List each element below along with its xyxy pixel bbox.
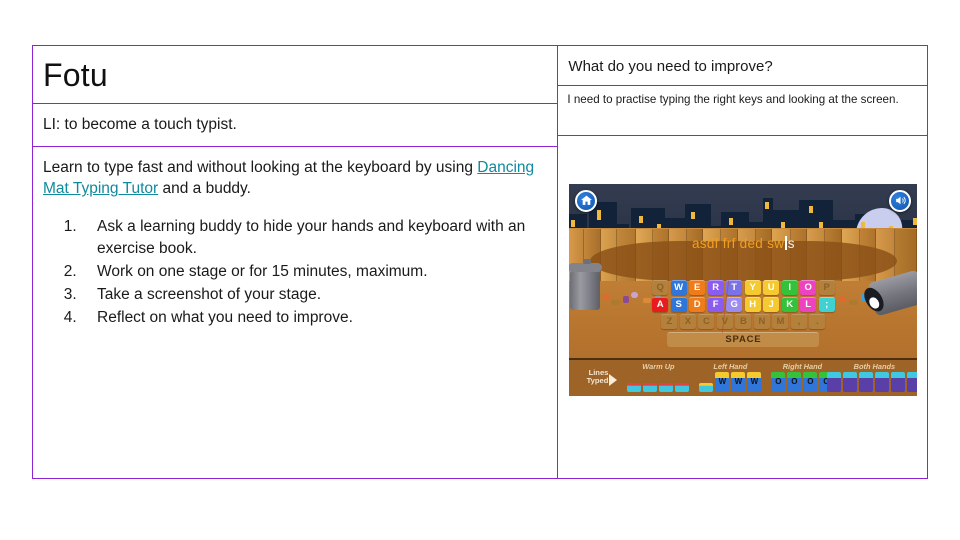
typing-game-screenshot: asdf frf ded sws xyxy=(569,184,917,396)
key-l[interactable]: L xyxy=(800,297,816,312)
key-f[interactable]: F xyxy=(708,297,724,312)
lines-typed-label-line2: Typed xyxy=(574,377,608,385)
progress-cans: WWW xyxy=(693,372,767,392)
key-s[interactable]: S xyxy=(671,297,687,312)
intro-text-after-link: and a buddy. xyxy=(158,180,251,197)
list-item: Work on one stage or for 15 minutes, max… xyxy=(81,261,546,283)
intro-text-before-link: Learn to type fast and without looking a… xyxy=(43,159,477,176)
can-letter: W xyxy=(751,377,759,386)
can-letter: O xyxy=(807,377,813,386)
progress-can: W xyxy=(731,372,745,392)
key-m[interactable]: M xyxy=(772,314,788,329)
keyboard-row-top: QWERTYUIOP xyxy=(569,280,917,295)
lines-typed-label: Lines Typed xyxy=(574,369,608,386)
reflection-question-cell: What do you need to improve? xyxy=(557,45,928,87)
progress-can xyxy=(875,372,889,392)
progress-can xyxy=(699,383,713,392)
key-q[interactable]: Q xyxy=(652,280,668,295)
window-light xyxy=(691,212,695,219)
screenshot-cell: asdf frf ded sws xyxy=(557,135,928,479)
progress-can: O xyxy=(787,372,801,392)
reflection-answer: I need to practise typing the right keys… xyxy=(567,92,918,108)
keyboard-row-home: ASDFGHJKL; xyxy=(569,297,917,312)
key-a[interactable]: A xyxy=(652,297,668,312)
window-light xyxy=(809,206,813,213)
progress-group: Warm Up xyxy=(621,362,695,392)
progress-can xyxy=(859,372,873,392)
progress-group: Left HandWWW xyxy=(693,362,767,392)
progress-group-label: Warm Up xyxy=(621,362,695,371)
window-light xyxy=(571,220,575,227)
key-e[interactable]: E xyxy=(689,280,705,295)
keyboard-row-bottom: ZXCVBNM,. xyxy=(569,314,917,329)
instructions-cell: Learn to type fast and without looking a… xyxy=(32,146,559,479)
right-column: What do you need to improve? I need to p… xyxy=(559,45,928,479)
trash-can-lid xyxy=(569,263,602,272)
progress-can xyxy=(891,372,905,392)
window-light xyxy=(729,218,733,225)
progress-group-label: Both Hands xyxy=(825,362,917,371)
progress-group: Both Hands xyxy=(825,362,917,392)
window-light xyxy=(639,216,643,223)
speaker-icon xyxy=(894,194,907,207)
intro-paragraph: Learn to type fast and without looking a… xyxy=(43,157,546,200)
key-g[interactable]: G xyxy=(726,297,742,312)
window-light xyxy=(597,210,601,220)
progress-can: W xyxy=(715,372,729,392)
key-i[interactable]: I xyxy=(782,280,798,295)
progress-can xyxy=(659,383,673,392)
key-w[interactable]: W xyxy=(671,280,687,295)
key-o[interactable]: O xyxy=(800,280,816,295)
window-light xyxy=(765,202,769,209)
progress-can xyxy=(907,372,917,392)
typing-prompt-text: asdf frf ded sws xyxy=(569,236,917,251)
list-item: Ask a learning buddy to hide your hands … xyxy=(81,216,546,260)
reflection-answer-cell: I need to practise typing the right keys… xyxy=(557,85,928,136)
typed-completed-text: asdf frf ded sw xyxy=(692,236,784,251)
play-arrow-icon xyxy=(609,374,617,386)
key-c[interactable]: C xyxy=(698,314,714,329)
progress-can: O xyxy=(771,372,785,392)
slide-table: Fotu LI: to become a touch typist. Learn… xyxy=(32,45,928,479)
key-z[interactable]: Z xyxy=(661,314,677,329)
key-p[interactable]: P xyxy=(819,280,835,295)
key-u[interactable]: U xyxy=(763,280,779,295)
key-space[interactable]: SPACE xyxy=(667,332,819,347)
list-item: Reflect on what you need to improve. xyxy=(81,307,546,329)
progress-can xyxy=(843,372,857,392)
progress-can xyxy=(627,383,641,392)
can-letter: W xyxy=(735,377,743,386)
key-x[interactable]: X xyxy=(680,314,696,329)
lines-typed-status-bar: Lines Typed Warm Up Left HandWWW Right H… xyxy=(569,358,917,396)
key-y[interactable]: Y xyxy=(745,280,761,295)
key-j[interactable]: J xyxy=(763,297,779,312)
can-letter: W xyxy=(719,377,727,386)
key-k[interactable]: K xyxy=(782,297,798,312)
key-semicolon[interactable]: ; xyxy=(819,297,835,312)
keyboard-row-space: SPACE xyxy=(569,332,917,347)
progress-can: W xyxy=(747,372,761,392)
trash-can-knob xyxy=(583,259,591,264)
progress-cans xyxy=(621,372,695,392)
left-column: Fotu LI: to become a touch typist. Learn… xyxy=(32,45,559,479)
progress-can xyxy=(827,372,841,392)
key-comma[interactable]: , xyxy=(791,314,807,329)
key-period[interactable]: . xyxy=(809,314,825,329)
home-icon xyxy=(580,194,593,207)
can-letter: O xyxy=(791,377,797,386)
key-h[interactable]: H xyxy=(745,297,761,312)
text-cursor xyxy=(785,236,787,250)
reflection-question: What do you need to improve? xyxy=(558,58,772,75)
can-letter: O xyxy=(775,377,781,386)
progress-can: O xyxy=(803,372,817,392)
learning-intention-text: LI: to become a touch typist. xyxy=(33,116,237,134)
key-b[interactable]: B xyxy=(735,314,751,329)
progress-can xyxy=(643,383,657,392)
progress-cans xyxy=(825,372,917,392)
learning-intention-cell: LI: to become a touch typist. xyxy=(32,103,559,147)
key-r[interactable]: R xyxy=(708,280,724,295)
progress-group-label: Left Hand xyxy=(693,362,767,371)
key-n[interactable]: N xyxy=(754,314,770,329)
page-title: Fotu xyxy=(33,57,108,94)
typed-remaining-text: s xyxy=(788,236,795,251)
window-light xyxy=(913,218,917,225)
steps-list: Ask a learning buddy to hide your hands … xyxy=(43,216,546,329)
title-cell: Fotu xyxy=(32,45,559,105)
progress-can xyxy=(675,383,689,392)
list-item: Take a screenshot of your stage. xyxy=(81,284,546,306)
key-d[interactable]: D xyxy=(689,297,705,312)
on-screen-keyboard: QWERTYUIOP ASDFGHJKL; ZXCVBNM,. SPACE xyxy=(569,280,917,347)
